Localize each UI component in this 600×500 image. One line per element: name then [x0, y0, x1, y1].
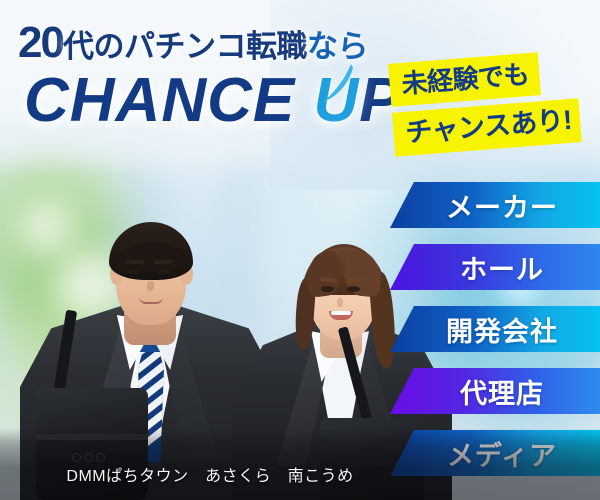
category-label-developer: 開発会社	[432, 310, 558, 349]
headline-tail: なら	[307, 29, 368, 64]
female-teeth	[331, 311, 351, 315]
category-button-agency[interactable]: 代理店	[390, 368, 600, 414]
male-mouth	[139, 297, 163, 304]
category-label-maker: メーカー	[432, 186, 558, 225]
chance-up-logo: CHANCE UP	[24, 70, 424, 132]
badge-line-2: チャンスあり!	[392, 98, 582, 157]
category-button-maker[interactable]: メーカー	[390, 182, 600, 228]
advertisement-banner[interactable]: 20代のパチンコ転職なら CHANCE UP 未経験でも チャンスあり! メーカ…	[0, 0, 600, 500]
headline: 20代のパチンコ転職なら	[18, 18, 448, 68]
category-label-agency: 代理店	[446, 372, 544, 411]
female-eye-left	[321, 286, 334, 292]
logo-main-text: CHANCE	[24, 66, 313, 135]
badge-unexperienced-ok: 未経験でも チャンスあり!	[388, 48, 596, 171]
logo-accent-letter: U	[313, 70, 359, 132]
male-nose	[147, 281, 154, 291]
caption-credits: DMMぱちタウン あさくら 南こうめ	[0, 462, 420, 486]
category-button-hall[interactable]: ホール	[390, 244, 600, 290]
headline-number: 20	[18, 18, 63, 67]
category-button-developer[interactable]: 開発会社	[390, 306, 600, 352]
male-eye-left	[127, 269, 141, 274]
logo-accent-u: U	[313, 66, 359, 135]
headline-mid: 代のパチンコ転職	[63, 29, 307, 64]
male-eye-right	[156, 269, 170, 274]
female-nose	[337, 298, 343, 307]
category-label-hall: ホール	[446, 248, 544, 287]
female-eye-right	[347, 286, 360, 292]
